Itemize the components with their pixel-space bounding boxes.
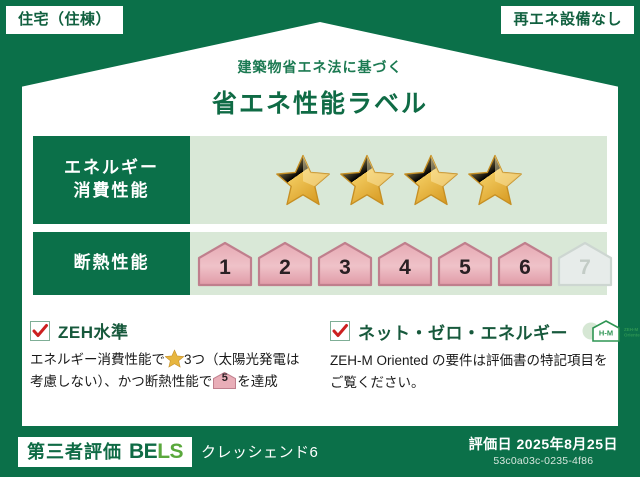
bels-logo-part1: BE	[129, 440, 157, 463]
insulation-grade-badge: 2	[256, 241, 314, 287]
star-icon	[404, 153, 458, 207]
insulation-grade-badge: 7	[556, 241, 614, 287]
zeh-m-oriented-logo: H-M ZEH-M Oriented	[580, 318, 640, 344]
criteria-zeh-body: エネルギー消費性能で 3つ（太陽光発電は考慮しない）、かつ断熱性能で 5 を達成	[30, 349, 306, 393]
row-energy-label-line2: 消費性能	[74, 180, 150, 203]
criteria-net-zero-title: ネット・ゼロ・エネルギー	[358, 319, 568, 344]
criteria-zeh-header: ZEH水準	[30, 318, 306, 343]
bels-badge: 第三者評価 BELS	[18, 437, 192, 467]
badge-building-type: 住宅（住棟）	[6, 6, 123, 34]
checkmark-icon	[330, 321, 350, 341]
star-icon	[468, 153, 522, 207]
insulation-grade-badge: 1	[196, 241, 254, 287]
row-energy-performance: エネルギー 消費性能	[33, 136, 607, 224]
insulation-grade-value: 6	[519, 256, 531, 287]
insulation-grade-value: 1	[219, 256, 231, 287]
title-block: 建築物省エネ法に基づく 省エネ性能ラベル	[0, 57, 640, 120]
criteria-zeh: ZEH水準 エネルギー消費性能で 3つ（太陽光発電は考慮しない）、かつ断熱性能で…	[30, 318, 320, 394]
criteria-zeh-text-3: を達成	[237, 374, 278, 389]
svg-text:Oriented: Oriented	[624, 333, 640, 338]
criteria-zeh-title: ZEH水準	[58, 318, 129, 343]
evaluation-date: 評価日 2025年8月25日	[469, 435, 618, 454]
footer: 第三者評価 BELS クレッシェンド6 評価日 2025年8月25日 53c0a…	[0, 426, 640, 477]
evaluation-id: 53c0a03c-0235-4f86	[469, 454, 618, 468]
criteria-section: ZEH水準 エネルギー消費性能で 3つ（太陽光発電は考慮しない）、かつ断熱性能で…	[30, 318, 610, 394]
svg-text:H-M: H-M	[599, 329, 613, 338]
star-icon	[340, 153, 394, 207]
row-energy-label: エネルギー 消費性能	[33, 136, 190, 224]
criteria-net-zero: ネット・ゼロ・エネルギー H-M ZEH-M Oriented ZEH-M Or…	[320, 318, 610, 394]
svg-text:ZEH-M: ZEH-M	[624, 327, 638, 332]
row-insulation-label-line1: 断熱性能	[74, 252, 150, 275]
row-insulation-label: 断熱性能	[33, 232, 190, 295]
insulation-grade-value: 3	[339, 256, 351, 287]
energy-performance-label: 住宅（住棟） 再エネ設備なし 建築物省エネ法に基づく 省エネ性能ラベル エネルギ…	[0, 0, 640, 477]
insulation-grade-value: 4	[399, 256, 411, 287]
bels-jp-label: 第三者評価	[27, 443, 122, 461]
insulation-grade-value: 5	[459, 256, 471, 287]
insulation-grade-value: 2	[279, 256, 291, 287]
page-title: 省エネ性能ラベル	[0, 84, 640, 120]
rating-rows: エネルギー 消費性能 断熱性能 1234567	[33, 136, 607, 303]
row-energy-label-line1: エネルギー	[64, 157, 159, 180]
star-icon	[165, 349, 184, 368]
insulation-grade-badge: 6	[496, 241, 554, 287]
row-insulation-performance: 断熱性能 1234567	[33, 232, 607, 295]
insulation-grade-badge: 4	[376, 241, 434, 287]
criteria-zeh-text-1: エネルギー消費性能で	[30, 352, 165, 367]
star-icon	[276, 153, 330, 207]
bels-logo-part2: LS	[157, 440, 183, 463]
criteria-net-zero-body: ZEH-M Oriented の要件は評価書の特記項目をご覧ください。	[330, 350, 610, 394]
inline-grade-badge-icon: 5	[213, 372, 236, 389]
building-name: クレッシェンド6	[201, 441, 318, 462]
row-insulation-grades: 1234567	[190, 232, 614, 295]
title-subtitle: 建築物省エネ法に基づく	[0, 57, 640, 77]
checkmark-icon	[30, 321, 50, 341]
insulation-grade-badge: 3	[316, 241, 374, 287]
bels-logo: BELS	[129, 441, 183, 462]
row-energy-stars	[190, 136, 607, 224]
badge-renewable-energy: 再エネ設備なし	[501, 6, 634, 34]
insulation-grade-value: 7	[579, 256, 591, 287]
footer-evaluation-info: 評価日 2025年8月25日 53c0a03c-0235-4f86	[469, 435, 618, 468]
criteria-net-zero-header: ネット・ゼロ・エネルギー H-M ZEH-M Oriented	[330, 318, 610, 344]
insulation-grade-badge: 5	[436, 241, 494, 287]
inline-grade-badge-value: 5	[213, 370, 236, 388]
